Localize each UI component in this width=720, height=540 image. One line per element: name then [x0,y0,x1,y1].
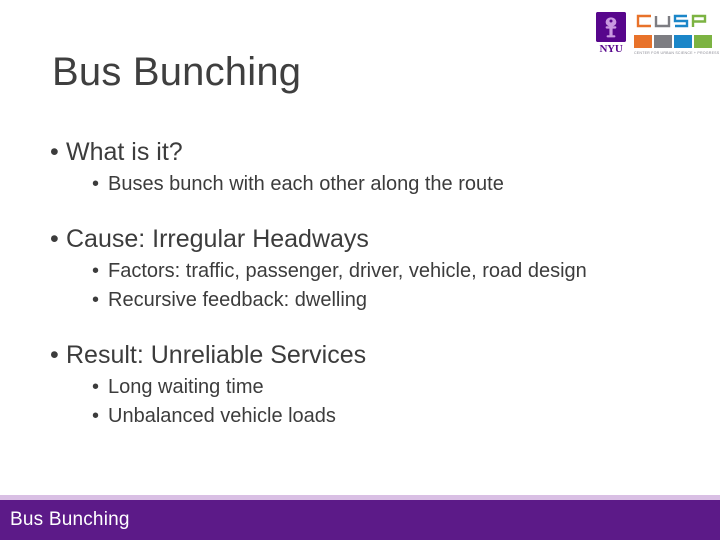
nyu-torch-icon [596,12,626,42]
slide-body: • What is it? • Buses bunch with each ot… [48,136,710,431]
bullet-group: • Result: Unreliable Services • Long wai… [48,339,710,431]
cusp-square-orange [634,35,652,48]
slide: NYU [0,0,720,540]
cusp-logo: CENTER FOR URBAN SCIENCE + PROGRESS [634,12,714,56]
bullet-level2-label: Unbalanced vehicle loads [108,405,336,427]
bullet-level1-label: What is it? [66,138,183,166]
cusp-color-squares [634,35,714,48]
cusp-tagline: CENTER FOR URBAN SCIENCE + PROGRESS [634,51,714,56]
bullet-glyph-icon: • [50,339,59,371]
bullet-level2: • Unbalanced vehicle loads [48,402,710,431]
bullet-glyph-icon: • [92,373,99,402]
cusp-square-green [694,35,712,48]
bullet-level2-label: Long waiting time [108,376,264,398]
bullet-level2-label: Recursive feedback: dwelling [108,289,367,311]
bullet-group: • What is it? • Buses bunch with each ot… [48,136,710,199]
bullet-glyph-icon: • [92,257,99,286]
page-title: Bus Bunching [52,48,301,96]
bullet-level2: • Buses bunch with each other along the … [48,170,710,199]
bullet-glyph-icon: • [50,223,59,255]
nyu-wordmark: NYU [600,43,623,55]
bullet-group: • Cause: Irregular Headways • Factors: t… [48,223,710,315]
bullet-level1-label: Result: Unreliable Services [66,341,366,369]
bullet-level2: • Factors: traffic, passenger, driver, v… [48,257,710,286]
bullet-level2-label: Factors: traffic, passenger, driver, veh… [108,260,587,282]
bullet-glyph-icon: • [92,402,99,431]
bullet-glyph-icon: • [92,286,99,315]
bullet-glyph-icon: • [50,136,59,168]
bullet-level1: • What is it? [48,136,710,168]
cusp-square-gray [654,35,672,48]
bullet-level1-label: Cause: Irregular Headways [66,225,369,253]
bullet-glyph-icon: • [92,170,99,199]
bullet-level2-label: Buses bunch with each other along the ro… [108,173,504,195]
bullet-level2: • Long waiting time [48,373,710,402]
nyu-logo: NYU [593,12,629,55]
bullet-level1: • Cause: Irregular Headways [48,223,710,255]
footer-label: Bus Bunching [10,508,130,532]
bullet-level1: • Result: Unreliable Services [48,339,710,371]
logo-block: NYU [593,12,714,56]
cusp-square-blue [674,35,692,48]
bullet-level2: • Recursive feedback: dwelling [48,286,710,315]
cusp-wordmark-icon [634,13,714,34]
